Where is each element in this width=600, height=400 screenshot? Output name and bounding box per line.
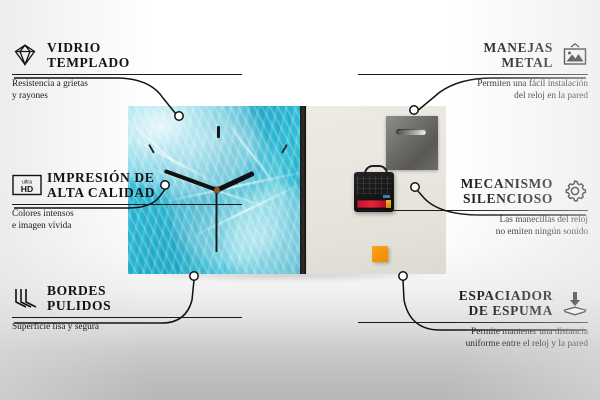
feature-divider (12, 204, 242, 205)
wall-frame-hanger-icon (562, 42, 588, 68)
feature-vidrio-templado: VIDRIO TEMPLADO Resistencia a grietas y … (12, 40, 242, 103)
clock-tick (281, 144, 288, 154)
feature-divider (12, 317, 242, 318)
foam-spacer (372, 246, 388, 262)
product-infographic: VIDRIO TEMPLADO Resistencia a grietas y … (0, 0, 600, 400)
hanger-slot (396, 129, 426, 135)
feature-impresion-alta-calidad: ultra HD IMPRESIÓN DE ALTA CALIDAD Color… (12, 170, 242, 233)
polished-edges-icon (12, 285, 38, 311)
down-arrow-layers-icon (562, 290, 588, 316)
feature-divider (12, 74, 242, 75)
feature-bordes-pulidos: BORDES PULIDOS Superficie lisa y segura (12, 283, 242, 334)
feature-title: ESPACIADOR DE ESPUMA (459, 288, 553, 318)
feature-title: BORDES PULIDOS (47, 283, 111, 313)
feature-title: MANEJAS METAL (484, 40, 553, 70)
feature-espaciador-de-espuma: ESPACIADOR DE ESPUMA Permite mantener un… (358, 288, 588, 351)
feature-manejas-metal: MANEJAS METAL Permiten una fácil instala… (358, 40, 588, 103)
feature-mecanismo-silencioso: MECANISMO SILENCIOSO Las manecillas del … (358, 176, 588, 239)
feature-description: Permite mantener una distancia uniforme … (358, 327, 588, 351)
metal-hanger-plate (386, 116, 438, 170)
gear-icon (562, 178, 588, 204)
svg-text:HD: HD (21, 184, 33, 194)
feature-title: MECANISMO SILENCIOSO (461, 176, 553, 206)
feature-divider (358, 210, 588, 211)
feature-divider (358, 74, 588, 75)
feature-description: Las manecillas del reloj no emiten ningú… (358, 215, 588, 239)
ultra-hd-icon: ultra HD (12, 172, 38, 198)
feature-title: VIDRIO TEMPLADO (47, 40, 130, 70)
feature-description: Permiten una fácil instalación del reloj… (358, 79, 588, 103)
feature-description: Superficie lisa y segura (12, 322, 242, 334)
clock-tick (217, 126, 220, 138)
feature-title: IMPRESIÓN DE ALTA CALIDAD (47, 170, 155, 200)
feature-description: Resistencia a grietas y rayones (12, 79, 242, 103)
feature-description: Colores intensos e imagen vívida (12, 209, 242, 233)
diamond-icon (12, 42, 38, 68)
feature-divider (358, 322, 588, 323)
